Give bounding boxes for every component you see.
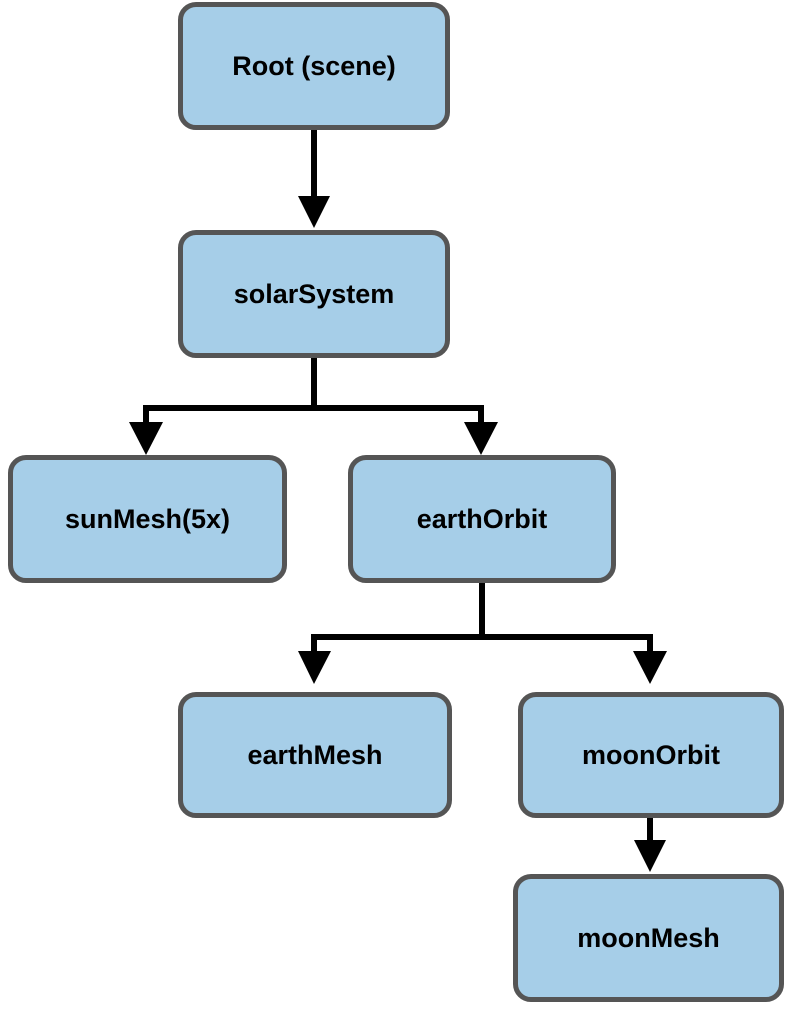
node-solarsystem[interactable]: solarSystem bbox=[178, 230, 450, 358]
node-solarsystem-label: solarSystem bbox=[234, 281, 395, 308]
edge-root-to-solarsystem bbox=[298, 130, 330, 228]
edge-earthorbit-to-earthmesh bbox=[298, 583, 482, 684]
node-sunmesh[interactable]: sunMesh(5x) bbox=[8, 455, 287, 583]
edge-solarsystem-to-earthorbit bbox=[314, 408, 498, 455]
edge-earthorbit-to-moonorbit bbox=[482, 637, 667, 684]
edge-moonorbit-to-moonmesh bbox=[634, 818, 666, 872]
node-moonorbit[interactable]: moonOrbit bbox=[518, 692, 784, 818]
edge-solarsystem-to-sunmesh bbox=[129, 358, 314, 455]
node-root[interactable]: Root (scene) bbox=[178, 2, 450, 130]
node-moonorbit-label: moonOrbit bbox=[582, 742, 720, 769]
node-earthmesh-label: earthMesh bbox=[247, 742, 382, 769]
node-sunmesh-label: sunMesh(5x) bbox=[65, 506, 230, 533]
scene-graph-diagram: Root (scene) solarSystem sunMesh(5x) ear… bbox=[0, 0, 808, 1014]
node-moonmesh[interactable]: moonMesh bbox=[513, 874, 784, 1002]
node-moonmesh-label: moonMesh bbox=[577, 925, 720, 952]
node-earthorbit[interactable]: earthOrbit bbox=[348, 455, 616, 583]
node-earthmesh[interactable]: earthMesh bbox=[178, 692, 452, 818]
node-earthorbit-label: earthOrbit bbox=[417, 506, 548, 533]
node-root-label: Root (scene) bbox=[232, 53, 396, 80]
